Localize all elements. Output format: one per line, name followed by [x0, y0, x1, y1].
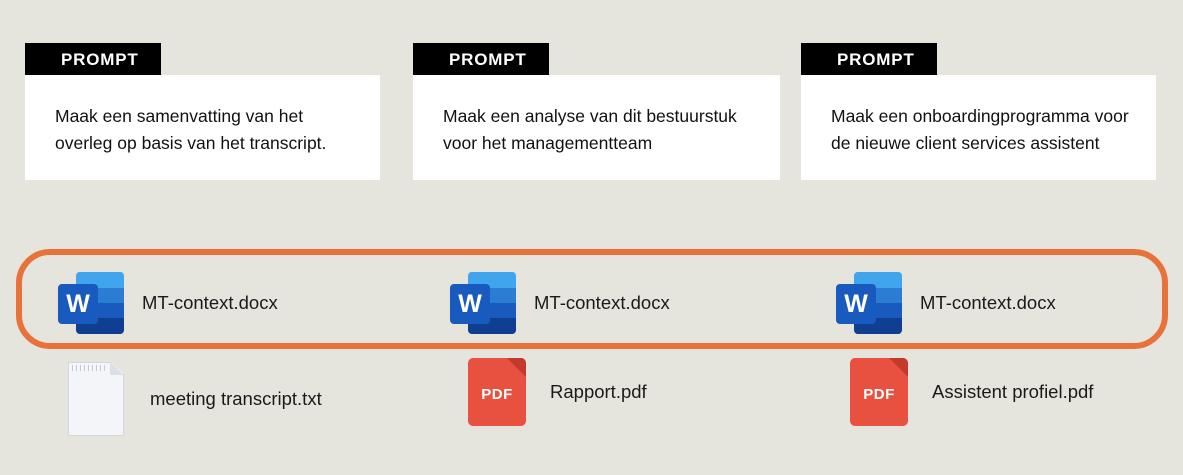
word-docx-icon: W [58, 272, 124, 334]
txt-document-icon [68, 362, 124, 436]
pdf-document-icon: PDF [468, 358, 526, 426]
file-label-context-1: MT-context.docx [142, 292, 278, 314]
prompt-column-3: PROMPT Maak een onboardingprogramma voor… [801, 43, 1156, 180]
prompt-tab-label-3: PROMPT [801, 43, 937, 75]
prompt-column-2: PROMPT Maak een analyse van dit bestuurs… [413, 43, 780, 180]
word-letter-glyph: W [450, 284, 490, 324]
file-item-context-2[interactable]: W MT-context.docx [450, 272, 670, 334]
prompt-column-1: PROMPT Maak een samenvatting van het ove… [25, 43, 380, 180]
prompt-card-3: Maak een onboardingprogramma voor de nie… [801, 75, 1156, 180]
word-docx-icon: W [836, 272, 902, 334]
prompt-card-1: Maak een samenvatting van het overleg op… [25, 75, 380, 180]
pdf-label-glyph: PDF [468, 386, 526, 403]
word-letter-glyph: W [836, 284, 876, 324]
prompt-text-2: Maak een analyse van dit bestuurstuk voo… [443, 103, 754, 157]
file-label-source-3: Assistent profiel.pdf [932, 381, 1093, 403]
prompt-tab-label-2: PROMPT [413, 43, 549, 75]
prompt-tab-label-1: PROMPT [25, 43, 161, 75]
file-label-source-1: meeting transcript.txt [150, 388, 322, 410]
pdf-label-glyph: PDF [850, 386, 908, 403]
file-item-source-3[interactable]: PDF Assistent profiel.pdf [850, 358, 1093, 426]
file-item-source-2[interactable]: PDF Rapport.pdf [468, 358, 647, 426]
slide-canvas: PROMPT Maak een samenvatting van het ove… [0, 0, 1183, 475]
prompt-text-1: Maak een samenvatting van het overleg op… [55, 103, 354, 157]
word-docx-icon: W [450, 272, 516, 334]
pdf-document-icon: PDF [850, 358, 908, 426]
file-item-context-3[interactable]: W MT-context.docx [836, 272, 1056, 334]
file-item-source-1[interactable]: meeting transcript.txt [68, 362, 322, 436]
file-label-context-3: MT-context.docx [920, 292, 1056, 314]
file-label-context-2: MT-context.docx [534, 292, 670, 314]
word-letter-glyph: W [58, 284, 98, 324]
prompt-card-2: Maak een analyse van dit bestuurstuk voo… [413, 75, 780, 180]
file-item-context-1[interactable]: W MT-context.docx [58, 272, 278, 334]
prompt-text-3: Maak een onboardingprogramma voor de nie… [831, 103, 1130, 157]
file-label-source-2: Rapport.pdf [550, 381, 647, 403]
